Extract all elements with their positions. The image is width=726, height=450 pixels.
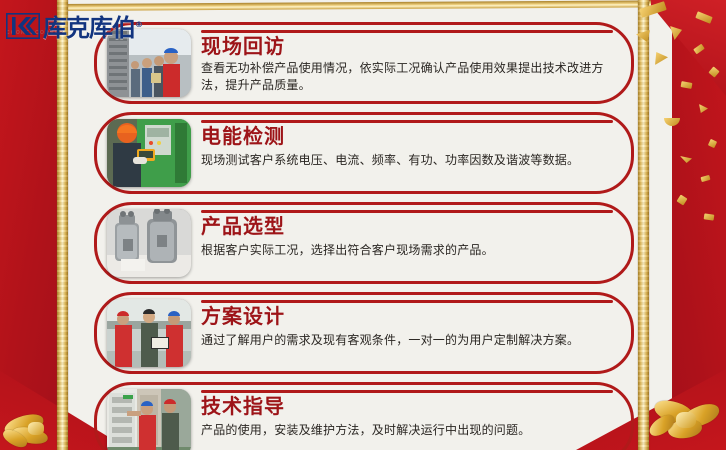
registered-mark-icon: ®	[135, 20, 142, 29]
service-card[interactable]: 产品选型 根据客户实际工况，选择出符合客户现场需求的产品。	[94, 202, 634, 284]
power-test-photo	[107, 119, 191, 187]
title-rule	[201, 210, 613, 213]
brand-wordmark: 库克库伯®	[43, 12, 142, 41]
product-selection-photo	[107, 209, 191, 277]
title-rule	[201, 390, 613, 393]
brand-logo[interactable]: 库克库伯®	[6, 9, 132, 43]
title-rule	[201, 30, 613, 33]
card-description: 通过了解用户的需求及现有客观条件，一对一的为用户定制解决方案。	[201, 332, 613, 349]
title-rule	[201, 120, 613, 123]
bottom-right-ribbon-bow	[638, 394, 724, 450]
card-title: 电能检测	[201, 124, 613, 148]
card-body: 方案设计 通过了解用户的需求及现有客观条件，一对一的为用户定制解决方案。	[201, 298, 613, 349]
card-description: 根据客户实际工况，选择出符合客户现场需求的产品。	[201, 242, 613, 259]
service-card[interactable]: 电能检测 现场测试客户系统电压、电流、频率、有功、功率因数及谐波等数据。	[94, 112, 634, 194]
card-title: 方案设计	[201, 304, 613, 328]
left-gold-stripe	[57, 0, 68, 450]
card-description: 产品的使用，安装及维护方法，及时解决运行中出现的问题。	[201, 422, 613, 439]
card-body: 技术指导 产品的使用，安装及维护方法，及时解决运行中出现的问题。	[201, 388, 613, 439]
card-body: 现场回访 查看无功补偿产品使用情况，依实际工况确认产品使用效果提出技术改进方法，…	[201, 28, 613, 94]
title-rule	[201, 300, 613, 303]
card-title: 技术指导	[201, 394, 613, 418]
card-description: 现场测试客户系统电压、电流、频率、有功、功率因数及谐波等数据。	[201, 152, 613, 169]
service-card-list: 现场回访 查看无功补偿产品使用情况，依实际工况确认产品使用效果提出技术改进方法，…	[94, 22, 634, 450]
card-title: 现场回访	[201, 34, 613, 58]
solution-design-photo	[107, 299, 191, 367]
service-card[interactable]: 方案设计 通过了解用户的需求及现有客观条件，一对一的为用户定制解决方案。	[94, 292, 634, 374]
card-title: 产品选型	[201, 214, 613, 238]
card-body: 电能检测 现场测试客户系统电压、电流、频率、有功、功率因数及谐波等数据。	[201, 118, 613, 169]
right-gold-stripe	[638, 0, 649, 450]
poster-root: 库克库伯® COOKE&COOPER	[0, 0, 726, 450]
double-chevron-k-logo-icon	[6, 13, 40, 39]
technical-guidance-photo	[107, 389, 191, 450]
service-card[interactable]: 现场回访 查看无功补偿产品使用情况，依实际工况确认产品使用效果提出技术改进方法，…	[94, 22, 634, 104]
card-description: 查看无功补偿产品使用情况，依实际工况确认产品使用效果提出技术改进方法，提升产品质…	[201, 60, 613, 94]
card-body: 产品选型 根据客户实际工况，选择出符合客户现场需求的产品。	[201, 208, 613, 259]
service-card[interactable]: 技术指导 产品的使用，安装及维护方法，及时解决运行中出现的问题。	[94, 382, 634, 450]
bottom-left-ribbon-bow	[2, 402, 72, 448]
